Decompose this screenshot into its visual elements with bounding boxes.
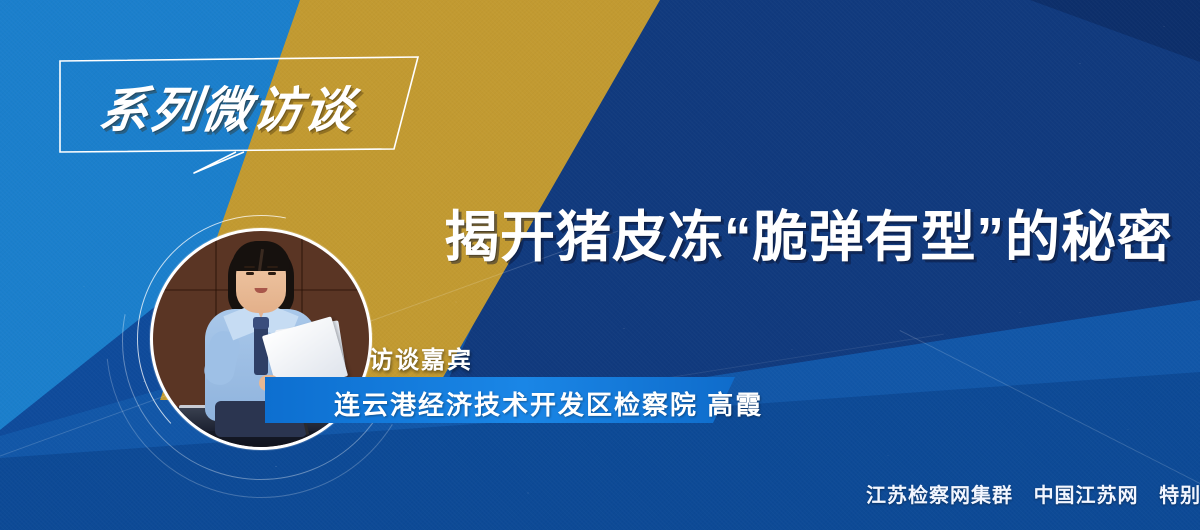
footer-credit-item: 江苏检察网集群 <box>866 485 1013 507</box>
photo-eyebrow <box>244 266 255 268</box>
footer-credit-item: 中国江苏网 <box>1034 485 1139 507</box>
interview-banner: 系列微访谈 <box>0 0 1200 530</box>
footer-credits: 江苏检察网集群 中国江苏网 特别策划 <box>866 479 1200 508</box>
page-title: 揭开猪皮冻“脆弹有型”的秘密 <box>444 192 1173 272</box>
photo-eye <box>246 272 254 275</box>
photo-necktie-knot <box>253 317 269 329</box>
guest-role-label: 访谈嘉宾 <box>369 340 473 375</box>
series-label-text: 系列微访谈 <box>96 71 360 142</box>
photo-eyebrow <box>267 266 278 268</box>
footer-credit-item: 特别策划 <box>1159 485 1200 507</box>
photo-eye <box>268 272 276 275</box>
guest-name-text: 连云港经济技术开发区检察院 高霞 <box>334 385 763 422</box>
series-label-frame: 系列微访谈 <box>60 57 412 150</box>
